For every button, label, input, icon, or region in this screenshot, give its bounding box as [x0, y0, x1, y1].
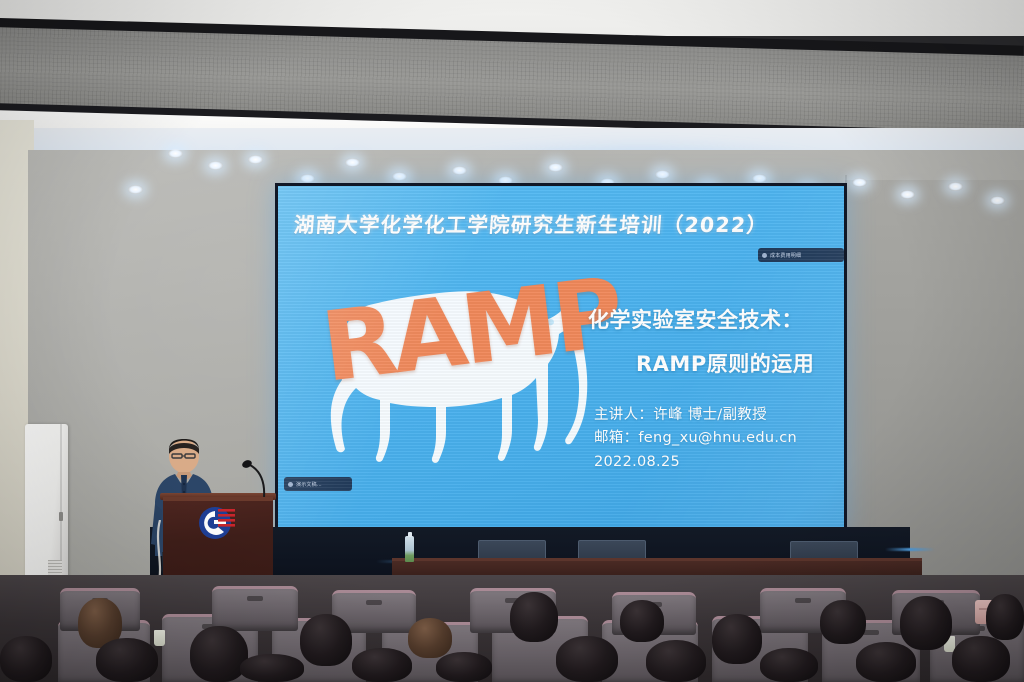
stage-led-strip-right [885, 548, 935, 551]
downlight-icon [948, 182, 963, 191]
slide-surface: 湖南大学化学化工学院研究生新生培训（2022） RAMP 化学实验室安全技术： … [278, 186, 844, 530]
lecture-hall-screenshot: 湖南大学化学化工学院研究生新生培训（2022） RAMP 化学实验室安全技术： … [0, 0, 1024, 682]
downlight-icon [655, 170, 670, 179]
downlight-icon [300, 174, 315, 183]
audience-member-head [408, 618, 452, 658]
audience-member-head [820, 600, 866, 644]
audience-member-head [556, 636, 618, 682]
downlight-icon [752, 174, 767, 183]
downlight-icon [392, 172, 407, 181]
slide-email: 邮箱：feng_xu@hnu.edu.cn [594, 427, 836, 450]
audience-member-head [952, 636, 1010, 682]
gooseneck-microphone-icon [228, 455, 268, 497]
badge-bottom-label: 演示文稿… [296, 481, 322, 488]
badge-dot-icon [288, 482, 293, 487]
slide-text-block: 化学实验室安全技术： RAMP原则的运用 主讲人：许峰 博士/副教授 邮箱：fe… [588, 304, 836, 474]
audience-member-head [646, 640, 706, 682]
audience-member-head [760, 648, 818, 682]
drink-cup [154, 630, 165, 646]
audience-member-head [856, 642, 916, 682]
badge-top-label: 成本费用明细 [770, 252, 801, 259]
audience-member-head [510, 592, 558, 642]
audience-member-head [96, 638, 158, 682]
slide-title-line-1: 化学实验室安全技术： [588, 304, 836, 334]
audience-member-head [900, 596, 952, 650]
slide-meta-block: 主讲人：许峰 博士/副教授 邮箱：feng_xu@hnu.edu.cn 2022… [588, 404, 836, 474]
audience-member-head [712, 614, 762, 664]
air-conditioner-knob [59, 512, 63, 521]
downlight-icon [900, 190, 915, 199]
downlight-icon [548, 163, 563, 172]
audience-member-head [352, 648, 412, 682]
audience-member-head [240, 654, 304, 682]
audience-member-head [190, 626, 248, 682]
audience-member-head [436, 652, 492, 682]
audience-seat [212, 586, 298, 631]
downlight-icon [852, 178, 867, 187]
downlight-icon [128, 185, 143, 194]
water-bottle [405, 536, 414, 562]
downlight-icon [208, 161, 223, 170]
downlight-icon [452, 166, 467, 175]
presentation-badge-top[interactable]: 成本费用明细 [758, 248, 844, 262]
slide-date: 2022.08.25 [594, 451, 836, 474]
audience-member-head [300, 614, 352, 666]
downlight-icon [345, 158, 360, 167]
slide-title-line-2: RAMP原则的运用 [588, 348, 836, 378]
audience-member-head [0, 636, 52, 682]
downlight-icon [168, 149, 183, 158]
downlight-icon [248, 155, 263, 164]
badge-dot-icon [762, 253, 767, 258]
downlight-icon [990, 196, 1005, 205]
projection-screen: 湖南大学化学化工学院研究生新生培训（2022） RAMP 化学实验室安全技术： … [275, 183, 847, 533]
audience-member-head [986, 594, 1024, 640]
slide-header-title: 湖南大学化学化工学院研究生新生培训（2022） [293, 208, 769, 238]
slide-presenter: 主讲人：许峰 博士/副教授 [594, 404, 836, 427]
audience-member-head [620, 600, 664, 642]
hunan-university-emblem-icon [196, 502, 240, 542]
presentation-badge-bottom[interactable]: 演示文稿… [284, 477, 352, 491]
